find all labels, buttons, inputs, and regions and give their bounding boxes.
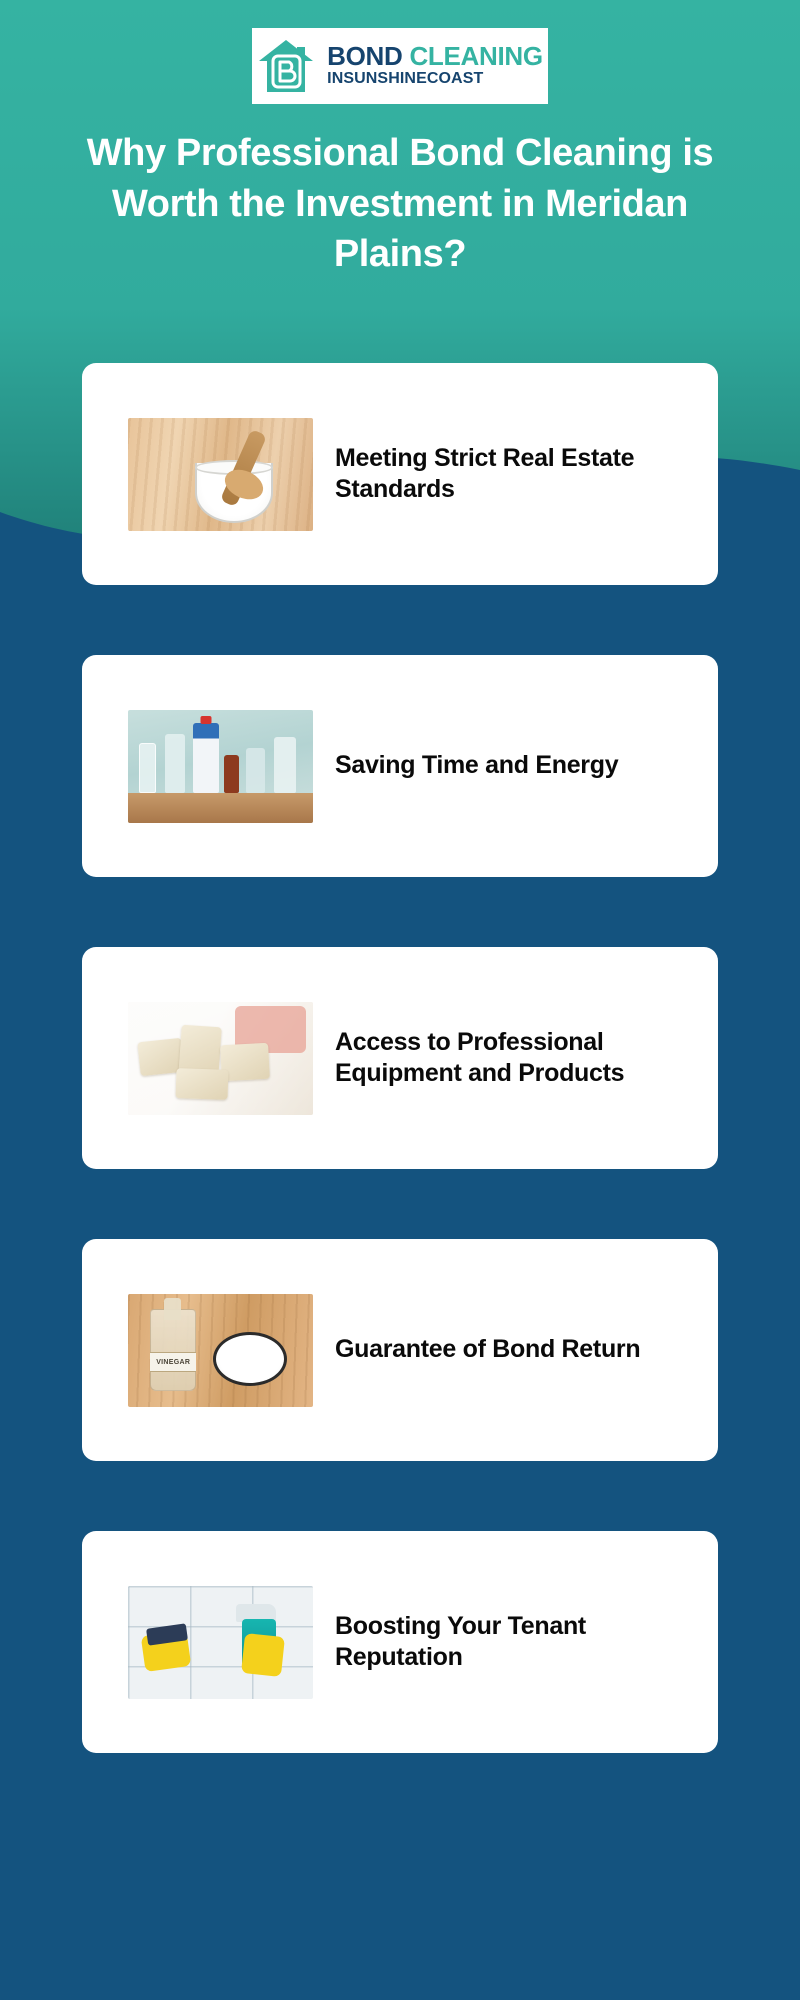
- benefit-card[interactable]: Saving Time and Energy: [82, 655, 718, 877]
- brand-word-cleaning: CLEANING: [409, 41, 542, 71]
- house-with-b-icon: [257, 38, 315, 94]
- page-title: Why Professional Bond Cleaning is Worth …: [50, 128, 750, 280]
- brand-logo-title: BOND CLEANING: [327, 43, 543, 69]
- benefit-card[interactable]: Access to Professional Equipment and Pro…: [82, 947, 718, 1169]
- vinegar-bottle-label: VINEGAR: [150, 1352, 196, 1372]
- benefit-card[interactable]: Boosting Your Tenant Reputation: [82, 1531, 718, 1753]
- benefit-card-list: Meeting Strict Real Estate Standards Sav…: [0, 363, 800, 1823]
- benefit-card[interactable]: Meeting Strict Real Estate Standards: [82, 363, 718, 585]
- brand-word-bond: BOND: [327, 41, 402, 71]
- vinegar-and-baking-soda-photo: VINEGAR: [128, 1294, 313, 1407]
- soap-bars-photo: [128, 1002, 313, 1115]
- benefit-card-title: Guarantee of Bond Return: [335, 1334, 640, 1365]
- brand-logo-text: BOND CLEANING INSUNSHINECOAST: [327, 43, 543, 89]
- benefit-card-title: Access to Professional Equipment and Pro…: [335, 1027, 688, 1090]
- baking-soda-bowl-photo: [128, 418, 313, 531]
- infographic-page: BOND CLEANING INSUNSHINECOAST Why Profes…: [0, 0, 800, 2000]
- benefit-card[interactable]: VINEGAR Guarantee of Bond Return: [82, 1239, 718, 1461]
- brand-logo[interactable]: BOND CLEANING INSUNSHINECOAST: [252, 28, 548, 104]
- brand-logo-subtitle: INSUNSHINECOAST: [327, 69, 543, 89]
- benefit-card-title: Saving Time and Energy: [335, 750, 618, 781]
- cleaning-bottles-photo: [128, 710, 313, 823]
- benefit-card-title: Boosting Your Tenant Reputation: [335, 1611, 688, 1674]
- gloved-hands-cleaning-tiles-photo: [128, 1586, 313, 1699]
- benefit-card-title: Meeting Strict Real Estate Standards: [335, 443, 688, 506]
